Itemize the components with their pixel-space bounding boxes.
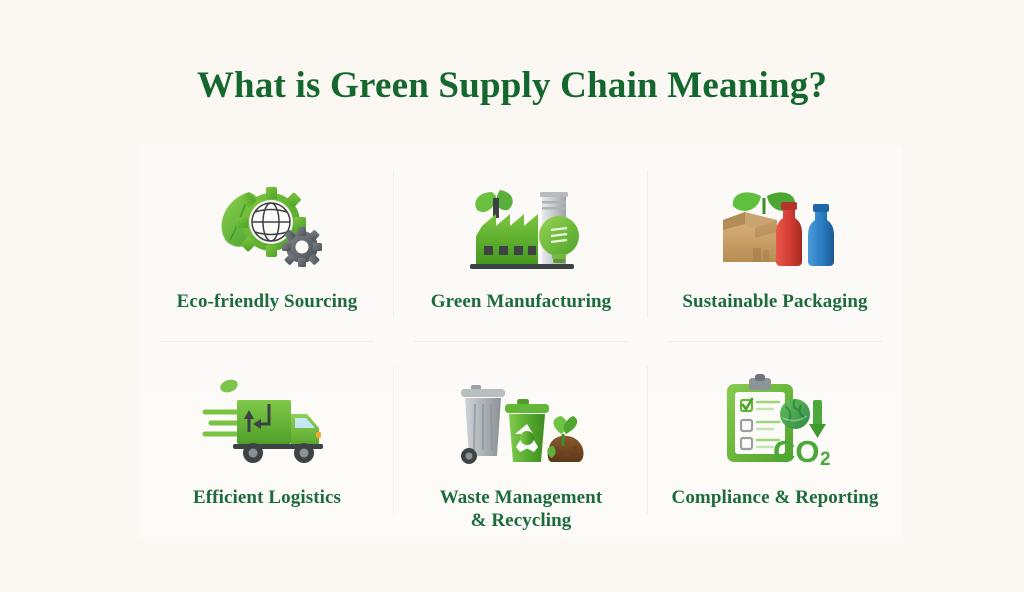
grid-cell-label: Efficient Logistics <box>193 486 341 509</box>
grid-cell-label: Compliance & Reporting <box>672 486 879 509</box>
grid-cell-label-line-2: & Recycling <box>471 510 572 531</box>
green-factory-lightbulb-icon <box>441 172 601 276</box>
svg-text:CO: CO <box>773 434 820 469</box>
cardboard-box-bottles-leaves-icon <box>695 172 855 276</box>
feature-grid: Eco-friendly Sourcing <box>140 146 902 538</box>
trash-recycling-compost-icon <box>441 368 601 472</box>
grid-cell-label: Green Manufacturing <box>431 290 611 313</box>
page-title: What is Green Supply Chain Meaning? <box>0 0 1024 107</box>
grid-cell-label-line-1: Waste Management <box>440 487 603 508</box>
grid-cell-sustainable-packaging[interactable]: Sustainable Packaging <box>648 146 902 342</box>
grid-cell-eco-friendly-sourcing[interactable]: Eco-friendly Sourcing <box>140 146 394 342</box>
leaf-gear-globe-icon <box>187 172 347 276</box>
green-delivery-truck-icon <box>187 368 347 472</box>
grid-cell-waste-management-recycling[interactable]: Waste Management & Recycling <box>394 342 648 538</box>
grid-cell-label: Eco-friendly Sourcing <box>177 290 358 313</box>
grid-cell-compliance-reporting[interactable]: CO 2 Compliance & Reporting <box>648 342 902 538</box>
grid-cell-green-manufacturing[interactable]: Green Manufacturing <box>394 146 648 342</box>
svg-text:2: 2 <box>820 449 831 470</box>
clipboard-checklist-globe-co2-icon: CO 2 <box>695 368 855 472</box>
grid-cell-label: Waste Management & Recycling <box>440 486 603 532</box>
grid-cell-efficient-logistics[interactable]: Efficient Logistics <box>140 342 394 538</box>
grid-cell-label: Sustainable Packaging <box>682 290 867 313</box>
